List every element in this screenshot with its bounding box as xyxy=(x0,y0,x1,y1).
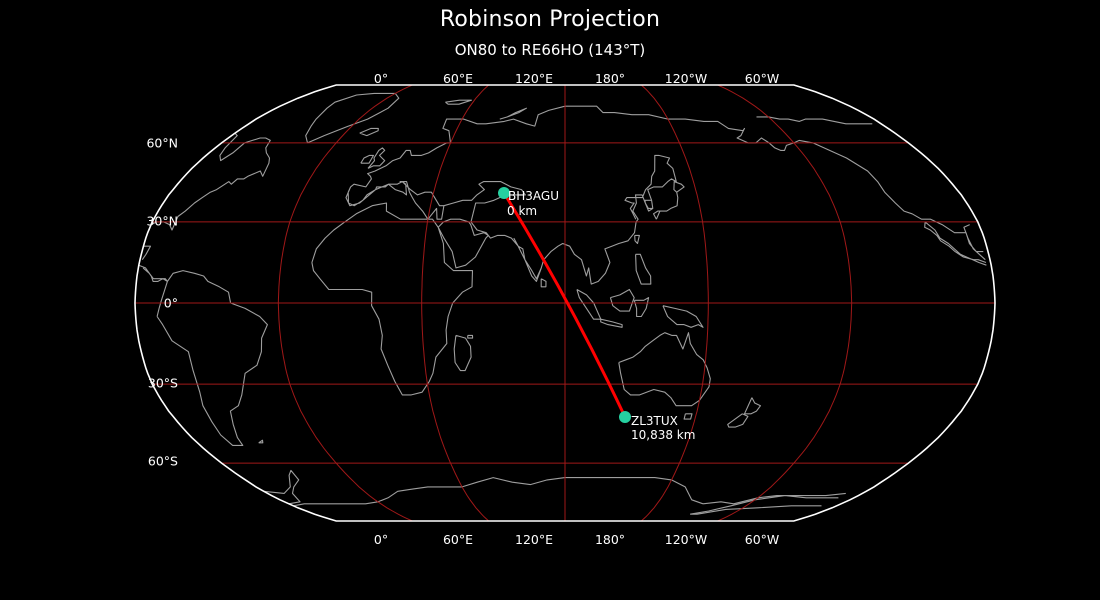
lon-tick-top: 180° xyxy=(595,71,625,86)
lon-tick-bottom: 120°E xyxy=(515,532,553,547)
marker-callsign: ZL3TUX xyxy=(631,415,678,428)
lon-tick-bottom: 60°W xyxy=(745,532,780,547)
lon-tick-bottom: 180° xyxy=(595,532,625,547)
marker-distance: 10,838 km xyxy=(631,428,695,442)
lon-tick-top: 60°W xyxy=(745,71,780,86)
lat-tick: 0° xyxy=(0,296,178,311)
coastline-path xyxy=(139,93,987,514)
lon-tick-top: 120°E xyxy=(515,71,553,86)
station-marker[interactable] xyxy=(619,411,631,423)
coastlines-layer xyxy=(139,93,987,514)
lat-tick: 30°S xyxy=(0,376,178,391)
lat-tick: 30°N xyxy=(0,214,178,229)
lon-tick-top: 60°E xyxy=(443,71,473,86)
lon-tick-top: 120°W xyxy=(665,71,707,86)
lon-tick-bottom: 0° xyxy=(374,532,388,547)
lat-tick: 60°N xyxy=(0,136,178,151)
map-body xyxy=(135,85,995,521)
graticule-lines xyxy=(135,85,995,521)
lat-tick: 60°S xyxy=(0,454,178,469)
marker-callsign: BH3AGU xyxy=(508,190,559,203)
lon-tick-bottom: 120°W xyxy=(665,532,707,547)
lon-tick-bottom: 60°E xyxy=(443,532,473,547)
marker-distance: 0 km xyxy=(507,204,537,218)
lon-tick-top: 0° xyxy=(374,71,388,86)
graticule-layer xyxy=(135,85,995,521)
map-figure: Robinson Projection ON80 to RE66HO (143°… xyxy=(0,0,1100,600)
